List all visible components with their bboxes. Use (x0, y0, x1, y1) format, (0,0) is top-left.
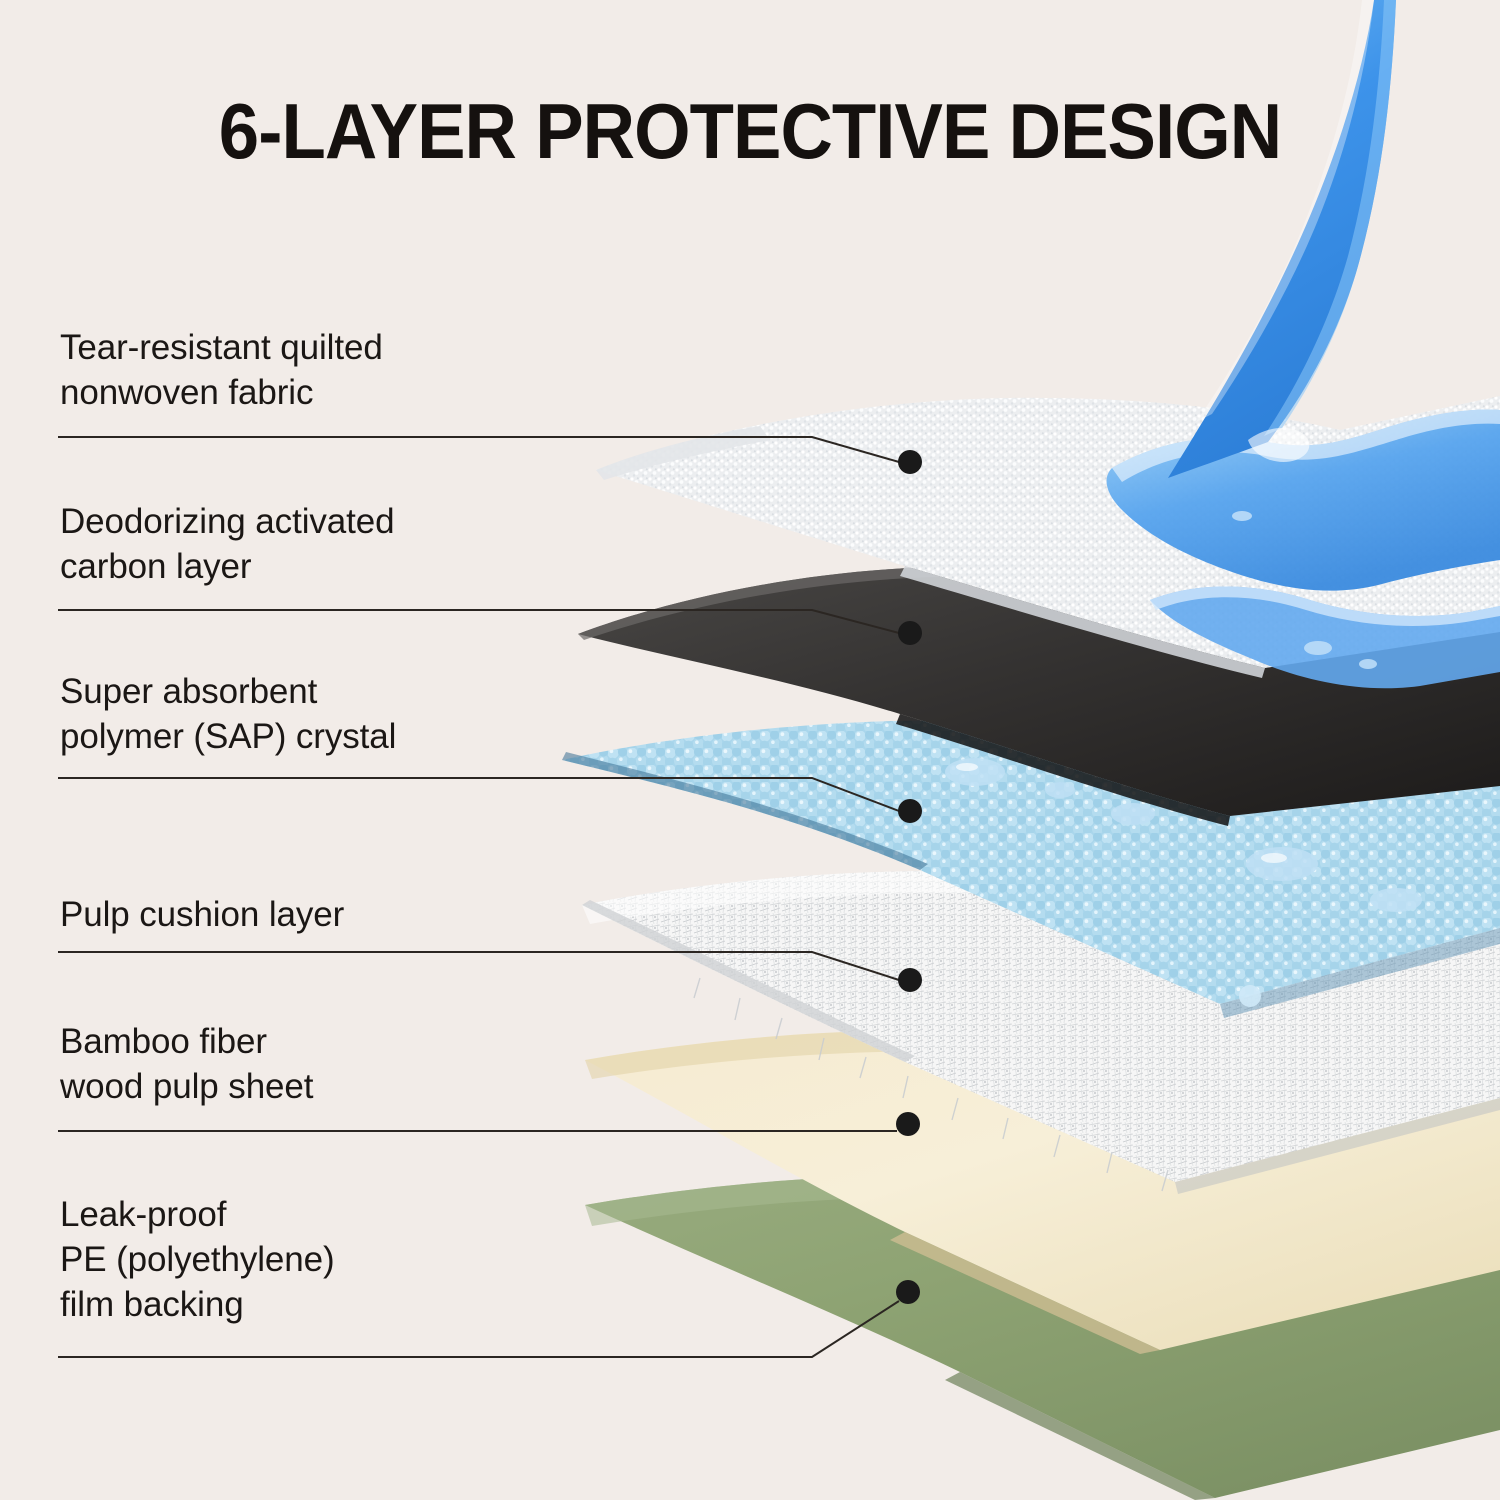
page-title: 6-LAYER PROTECTIVE DESIGN (53, 92, 1448, 170)
callout-dot-2 (898, 621, 922, 645)
layer-label-2: Deodorizing activated carbon layer (60, 500, 395, 590)
callout-dot-6 (896, 1280, 920, 1304)
infographic-canvas: 6-LAYER PROTECTIVE DESIGN Tear-resistant… (0, 0, 1500, 1500)
leader-line-1 (58, 437, 899, 462)
layer-label-6: Leak-proof PE (polyethylene) film backin… (60, 1193, 335, 1327)
layer-label-4: Pulp cushion layer (60, 893, 344, 938)
leader-line-3 (58, 778, 899, 811)
callout-dot-1 (898, 450, 922, 474)
callout-dot-4 (898, 968, 922, 992)
leader-line-2 (58, 610, 899, 633)
layer-label-1: Tear-resistant quilted nonwoven fabric (60, 326, 383, 416)
layer-label-5: Bamboo fiber wood pulp sheet (60, 1020, 313, 1110)
leader-line-4 (58, 952, 899, 980)
callout-dot-3 (898, 799, 922, 823)
layer-label-3: Super absorbent polymer (SAP) crystal (60, 670, 396, 760)
callout-dot-5 (896, 1112, 920, 1136)
